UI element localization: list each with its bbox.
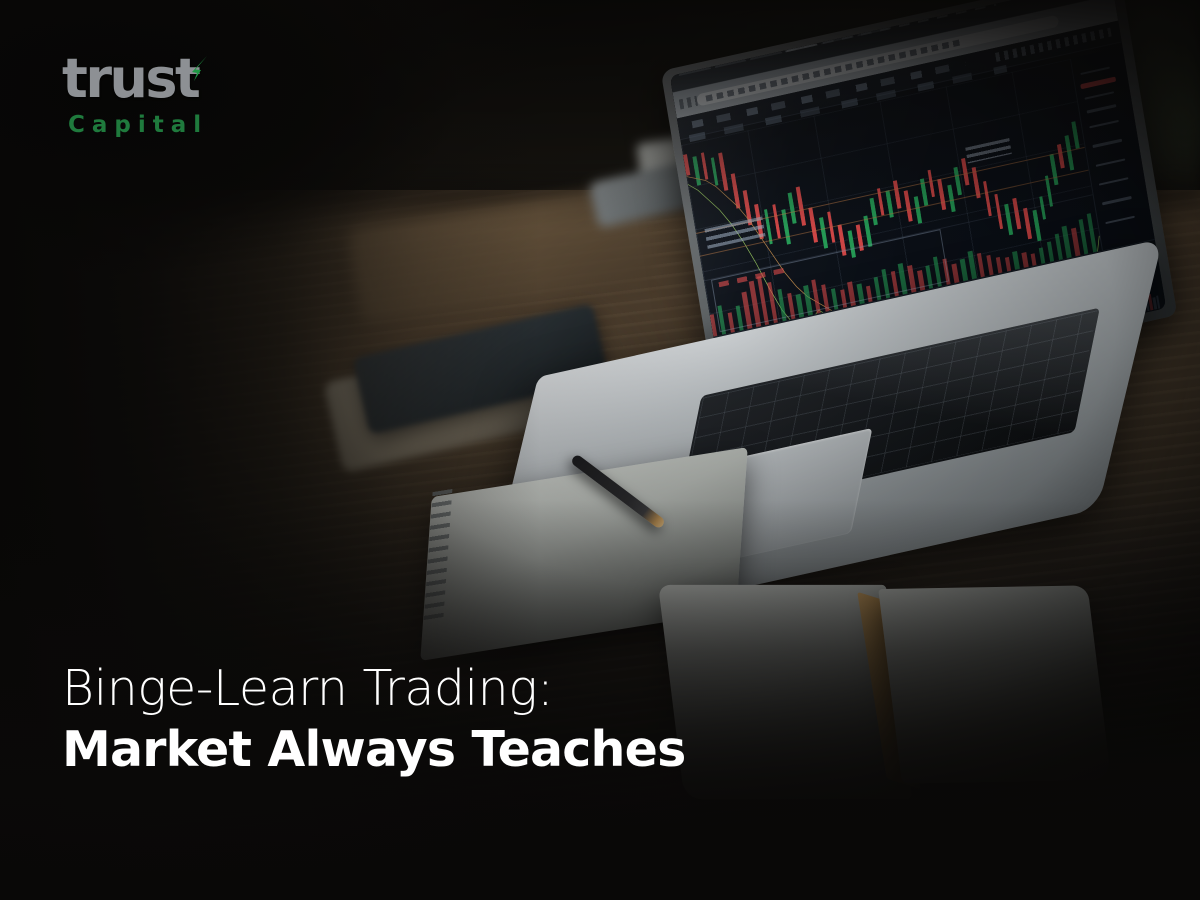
candle <box>954 167 962 195</box>
brand-logo[interactable]: trust Capital <box>62 52 302 138</box>
volume-bar <box>1079 219 1089 255</box>
candle-body <box>929 181 935 193</box>
headline-line-1: Binge-Learn Trading: <box>62 660 822 718</box>
volume-bar <box>996 257 1003 273</box>
candle-body <box>1059 156 1064 164</box>
candle-body <box>744 200 751 220</box>
candle-body <box>765 217 771 231</box>
candle-body <box>864 219 872 243</box>
volume-bar <box>960 259 968 281</box>
candle <box>983 181 992 216</box>
last-price-badge <box>1080 77 1116 89</box>
candle <box>796 187 806 226</box>
candle-body <box>1051 158 1058 178</box>
headline-block: Binge-Learn Trading: Market Always Teach… <box>62 660 822 780</box>
candle-body <box>948 188 954 204</box>
green-arrow-icon <box>180 54 210 84</box>
candle <box>808 208 817 243</box>
candle <box>904 190 913 221</box>
candle <box>893 181 901 209</box>
volume-bar <box>1047 242 1055 262</box>
candle-body <box>693 160 698 170</box>
volume-bar <box>968 251 977 279</box>
candle-body <box>985 192 992 212</box>
candle <box>731 173 740 208</box>
axis-tick <box>1105 215 1135 224</box>
candle-body <box>920 183 926 199</box>
headline-line-2: Market Always Teaches <box>62 720 822 780</box>
candle <box>1071 121 1079 149</box>
axis-tick <box>1087 104 1117 113</box>
candle-body <box>733 185 740 203</box>
axis-tick <box>1085 91 1115 100</box>
axis-tick <box>1102 196 1132 205</box>
book-right-page <box>878 585 1111 783</box>
candle <box>938 179 947 210</box>
candle <box>914 196 922 224</box>
candle <box>788 192 797 223</box>
candle <box>718 152 728 191</box>
candle <box>927 169 935 197</box>
candle-body <box>887 194 893 210</box>
candle-body <box>783 217 789 231</box>
axis-tick <box>1099 177 1129 186</box>
axis-tick <box>1089 120 1119 129</box>
candle-wick <box>684 154 688 175</box>
candle <box>692 156 700 186</box>
axis-tick <box>1096 158 1126 167</box>
candle-body <box>857 234 862 244</box>
candle-body <box>963 169 969 181</box>
candle-body <box>797 196 805 220</box>
volume-bar <box>1039 248 1046 264</box>
volume-bar <box>1012 251 1019 269</box>
candle <box>819 217 828 248</box>
volume-bar <box>977 253 985 277</box>
candle <box>948 185 956 213</box>
candle-body <box>973 179 979 195</box>
candle <box>1065 135 1074 170</box>
candle-body <box>810 217 817 237</box>
volume-bar <box>986 255 994 275</box>
volume-bar <box>1062 226 1072 259</box>
candle-body <box>1072 125 1078 137</box>
candle-body <box>940 190 946 206</box>
candle-body <box>870 202 876 218</box>
candle-body <box>701 158 708 176</box>
candle <box>1050 154 1059 185</box>
candle-body <box>711 162 717 174</box>
candle-body <box>1045 179 1052 199</box>
candle-body <box>685 167 689 172</box>
candle-body <box>879 200 885 212</box>
volume-bar <box>1087 213 1098 253</box>
brand-tagline: Capital <box>68 112 302 138</box>
volume-bar <box>1071 228 1080 256</box>
candle <box>701 152 709 180</box>
axis-tick <box>1093 139 1123 148</box>
volume-bar <box>952 264 959 283</box>
volume-bar <box>1022 252 1029 267</box>
candle <box>710 158 718 186</box>
volume-bar <box>1054 234 1063 260</box>
candle-body <box>720 160 728 188</box>
axis-tick <box>1080 66 1110 75</box>
marketing-banner: trust Capital Binge-Learn Trading: Marke… <box>0 0 1200 900</box>
candle <box>772 204 781 239</box>
candle-body <box>774 215 781 233</box>
candle <box>1057 144 1065 168</box>
volume-bar <box>1005 257 1011 271</box>
candle <box>869 198 877 226</box>
candle-body <box>895 192 901 204</box>
